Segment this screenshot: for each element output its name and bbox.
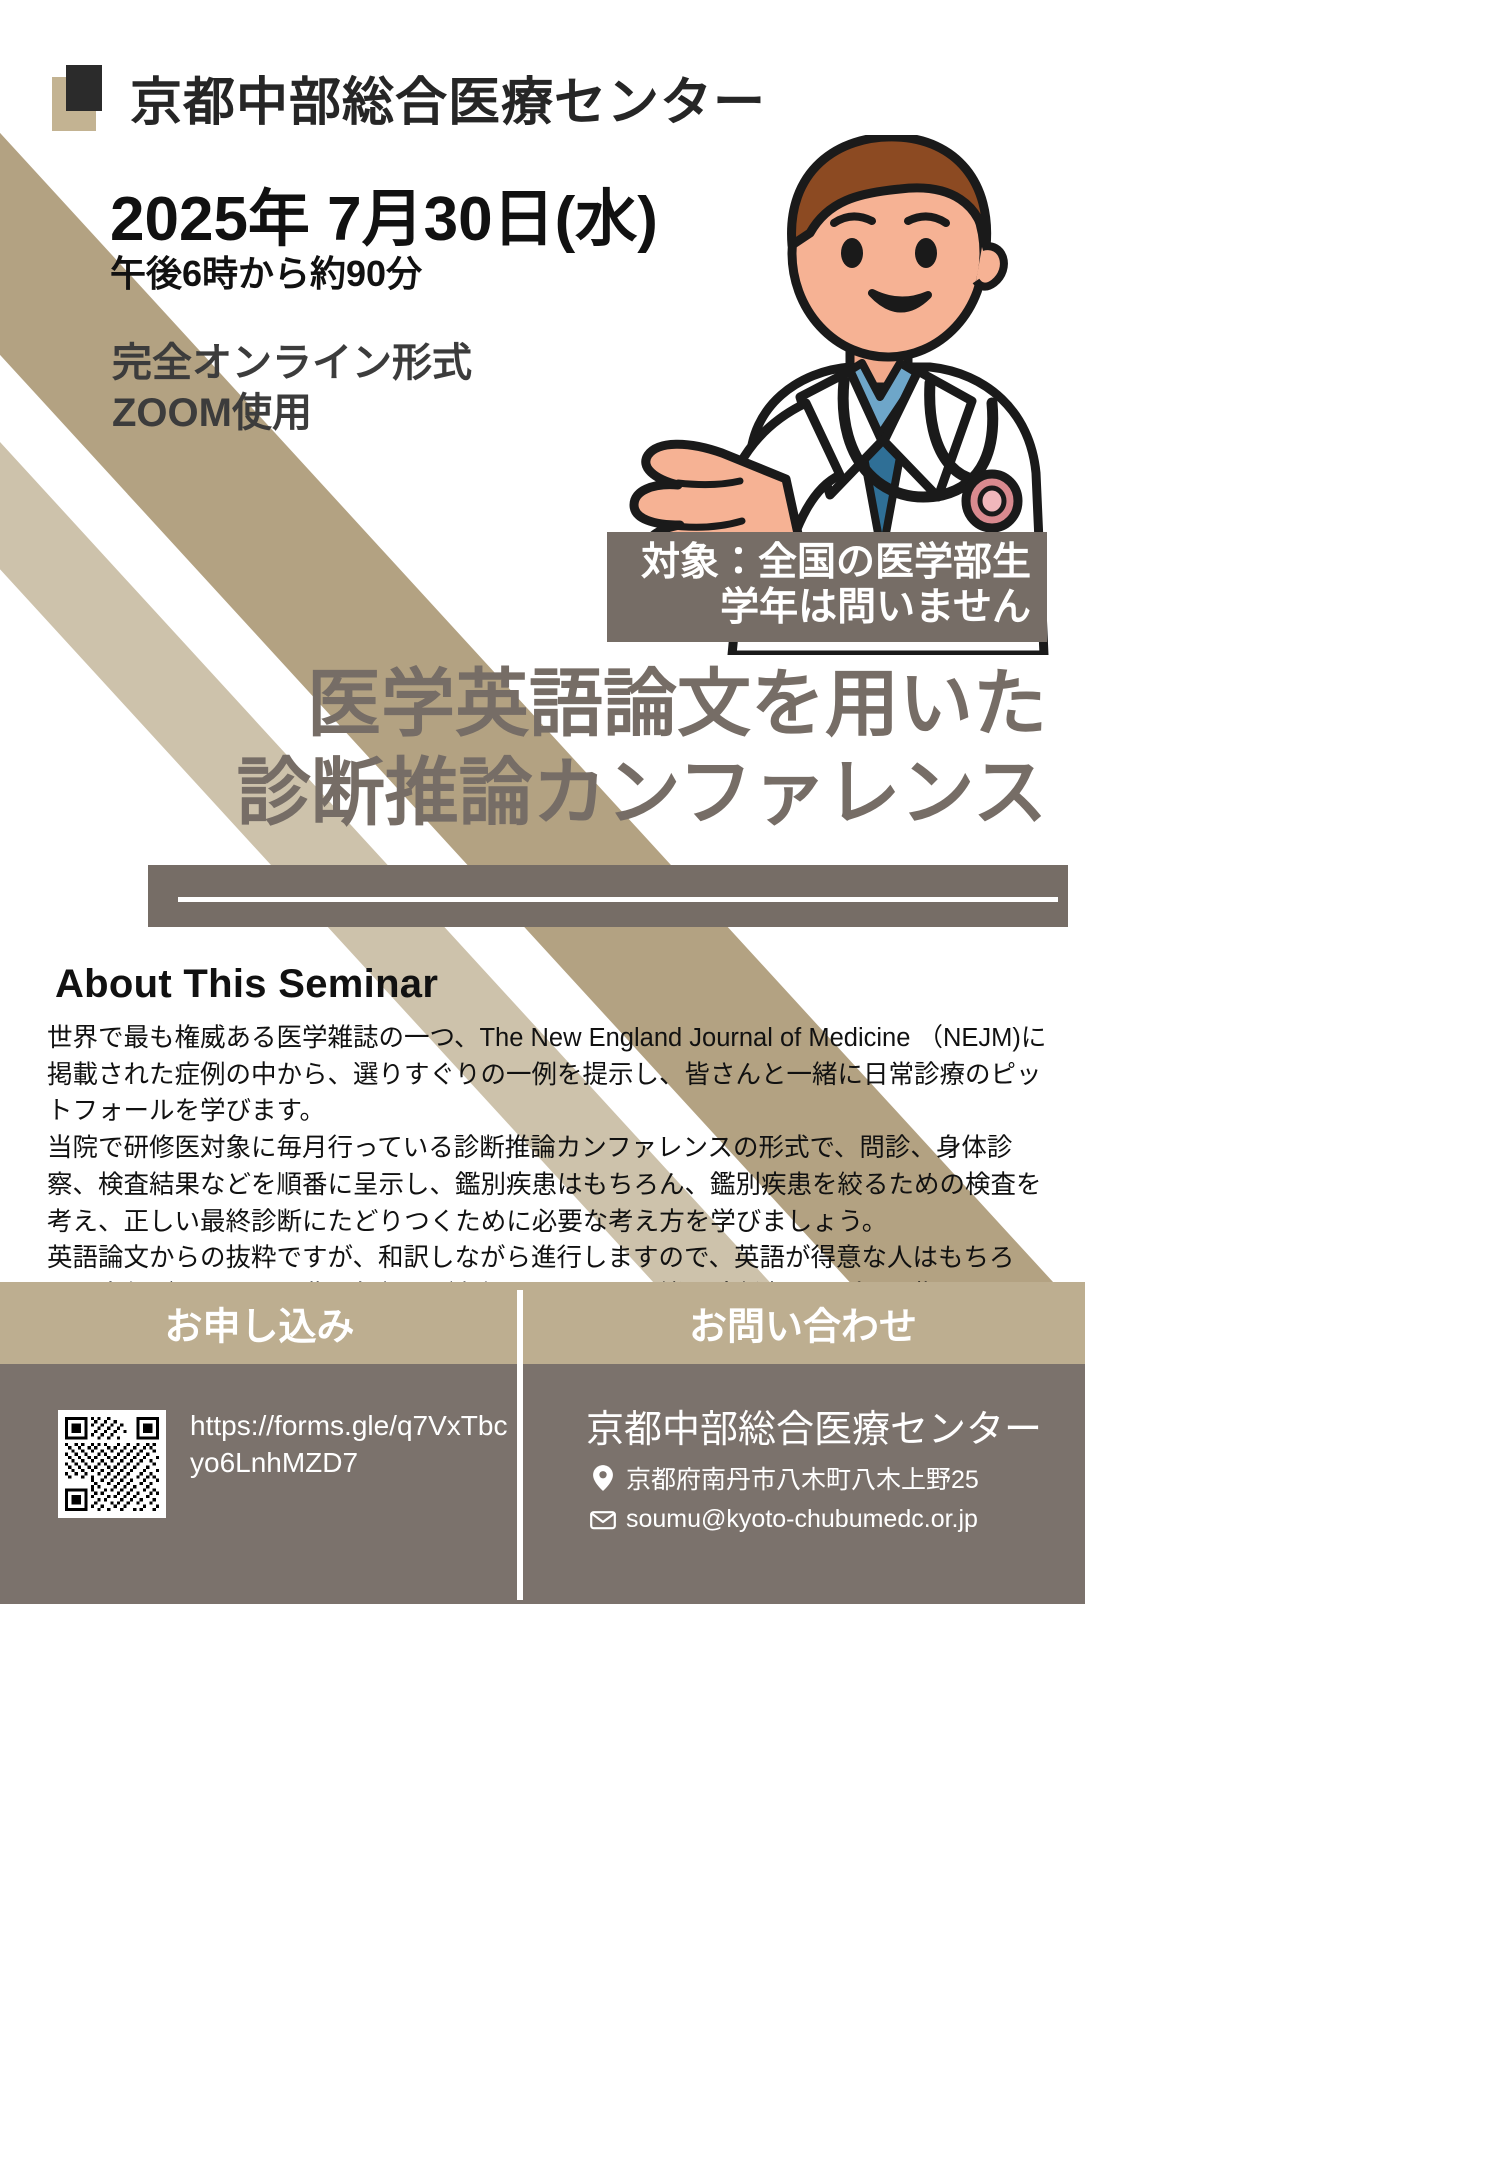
seminar-title: 医学英語論文を用いた 診断推論カンファレンス: [0, 660, 1085, 838]
map-pin-icon: [590, 1464, 616, 1492]
audience-line2: 学年は問いません: [623, 585, 1031, 630]
event-format-line2: ZOOM使用: [112, 380, 312, 438]
audience-callout: 対象：全国の医学部生 学年は問いません: [607, 532, 1047, 642]
contact-organization: 京都中部総合医療センター: [586, 1398, 1042, 1453]
title-underline-bar: [148, 865, 1068, 927]
contact-email-row[interactable]: soumu@kyoto-chubumedc.or.jp: [590, 1505, 978, 1534]
organization-header: 京都中部総合医療センター: [52, 60, 766, 135]
contact-email-text: soumu@kyoto-chubumedc.or.jp: [626, 1505, 978, 1534]
poster-root: 京都中部総合医療センター 2025年 7月30日(水) 午後6時から約90分 完…: [0, 0, 1085, 2167]
footer-divider: [517, 1290, 523, 1600]
seminar-title-line1: 医学英語論文を用いた: [0, 660, 1085, 749]
envelope-icon: [590, 1506, 616, 1534]
two-squares-logo-icon: [52, 65, 114, 131]
about-paragraph: 当院で研修医対象に毎月行っている診断推論カンファレンスの形式で、問診、身体診察、…: [47, 1130, 1047, 1240]
title-underline-stripe: [178, 897, 1058, 902]
event-date-text: 2025年 7月30日(水): [110, 185, 658, 254]
contact-heading: お問い合わせ: [521, 1296, 1085, 1351]
seminar-title-line2: 診断推論カンファレンス: [0, 749, 1085, 838]
about-paragraph: 世界で最も権威ある医学雑誌の一つ、The New England Journal…: [47, 1020, 1047, 1130]
contact-address-row: 京都府南丹市八木町八木上野25: [590, 1460, 979, 1496]
apply-heading: お申し込み: [0, 1296, 519, 1351]
about-heading: About This Seminar: [55, 962, 438, 1007]
organization-name: 京都中部総合医療センター: [130, 60, 766, 135]
footer-heading-band: お申し込み お問い合わせ: [0, 1282, 1085, 1364]
contact-address-text: 京都府南丹市八木町八木上野25: [626, 1460, 979, 1496]
qr-code-icon[interactable]: [58, 1410, 166, 1518]
audience-line1: 対象：全国の医学部生: [623, 540, 1031, 585]
event-time: 午後6時から約90分: [110, 245, 422, 297]
apply-url-link[interactable]: https://forms.gle/q7VxTbcyo6LnhMZD7: [190, 1408, 510, 1482]
